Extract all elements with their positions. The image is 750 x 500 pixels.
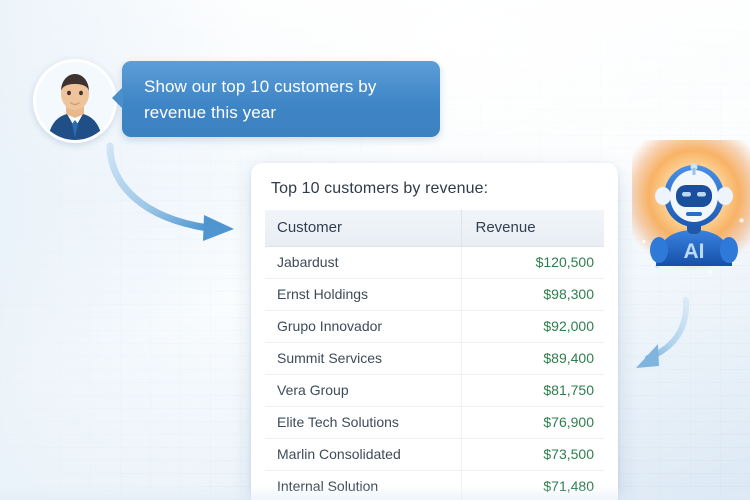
user-message-bubble: Show our top 10 customers by revenue thi… <box>122 61 440 137</box>
table-row[interactable]: Grupo Innovador$92,000 <box>265 311 604 343</box>
cell-customer: Summit Services <box>265 343 461 375</box>
ai-badge-label: AI <box>684 240 705 263</box>
cell-revenue: $81,750 <box>461 375 604 407</box>
cell-customer: Elite Tech Solutions <box>265 407 461 439</box>
table-row[interactable]: Elite Tech Solutions$76,900 <box>265 407 604 439</box>
cell-revenue: $76,900 <box>461 407 604 439</box>
table-row[interactable]: Vera Group$81,750 <box>265 375 604 407</box>
table-row[interactable]: Marlin Consolidated$73,500 <box>265 439 604 471</box>
cell-customer: Jabardust <box>265 247 461 279</box>
user-avatar <box>33 59 117 143</box>
table-row[interactable]: Internal Solution$71,480 <box>265 471 604 500</box>
table-row[interactable]: Ernst Holdings$98,300 <box>265 279 604 311</box>
column-header-customer[interactable]: Customer <box>265 210 461 247</box>
cell-customer: Grupo Innovador <box>265 311 461 343</box>
table-row[interactable]: Jabardust$120,500 <box>265 247 604 279</box>
cell-revenue: $120,500 <box>461 247 604 279</box>
cell-customer: Internal Solution <box>265 471 461 500</box>
cell-revenue: $92,000 <box>461 311 604 343</box>
cell-customer: Vera Group <box>265 375 461 407</box>
result-card: Top 10 customers by revenue: Customer Re… <box>251 163 618 500</box>
cell-customer: Marlin Consolidated <box>265 439 461 471</box>
table-body: Jabardust$120,500Ernst Holdings$98,300Gr… <box>265 247 604 500</box>
ai-assistant-avatar: AI <box>638 148 750 268</box>
cell-revenue: $98,300 <box>461 279 604 311</box>
cell-revenue: $73,500 <box>461 439 604 471</box>
user-message-text: Show our top 10 customers by revenue thi… <box>144 74 420 126</box>
businessman-avatar-icon <box>36 62 114 140</box>
top-customers-table: Customer Revenue Jabardust$120,500Ernst … <box>265 210 604 500</box>
column-header-revenue[interactable]: Revenue <box>461 210 604 247</box>
cell-revenue: $71,480 <box>461 471 604 500</box>
cell-revenue: $89,400 <box>461 343 604 375</box>
table-header: Customer Revenue <box>265 210 604 247</box>
result-card-title: Top 10 customers by revenue: <box>251 163 618 198</box>
scene-background: Show our top 10 customers by revenue thi… <box>0 0 750 500</box>
ai-robot-icon: AI <box>646 154 742 266</box>
cell-customer: Ernst Holdings <box>265 279 461 311</box>
table-row[interactable]: Summit Services$89,400 <box>265 343 604 375</box>
table-header-row: Customer Revenue <box>265 210 604 247</box>
